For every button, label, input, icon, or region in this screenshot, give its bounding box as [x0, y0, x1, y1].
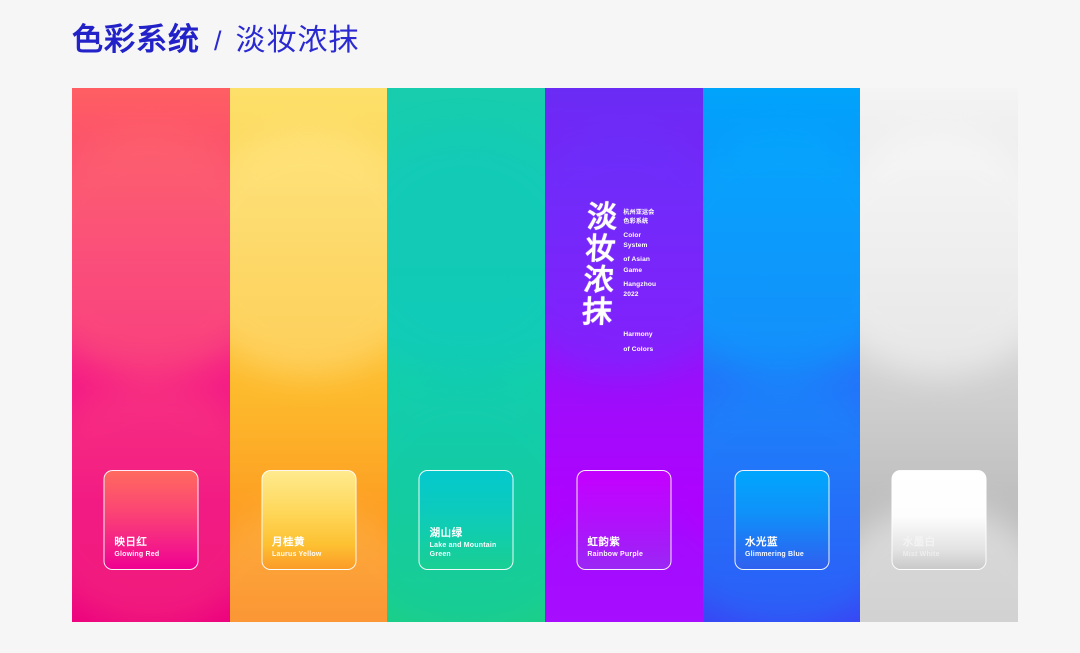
swatch-name-en: Glowing Red [114, 550, 197, 559]
swatch-name-en: Glimmering Blue [745, 550, 828, 559]
brand-logo-block: 淡 妆 浓 抹 杭州亚运会 色彩系统 Color System of Asian… [584, 203, 663, 355]
swatch-name-cn: 映日红 [114, 536, 197, 549]
tagline-line-2: of Colors [623, 345, 663, 355]
page-header: 色彩系统 / 淡妆浓抹 [72, 14, 360, 59]
meta-en-line-2: of Asian Game [623, 255, 663, 275]
meta-cn-line-1: 杭州亚运会 [623, 209, 663, 218]
swatch-card-blue[interactable]: 水光蓝 Glimmering Blue [734, 470, 829, 570]
color-palette-band: 映日红 Glowing Red 月桂黄 Laurus Yellow 湖山绿 La… [72, 88, 1018, 622]
color-column-blue[interactable]: 水光蓝 Glimmering Blue [703, 88, 861, 622]
logo-meta-text: 杭州亚运会 色彩系统 Color System of Asian Game Ha… [623, 203, 663, 355]
meta-en-line-1: Color System [623, 231, 663, 251]
swatch-name-cn: 湖山绿 [430, 527, 513, 540]
swatch-card-red[interactable]: 映日红 Glowing Red [103, 470, 198, 570]
logo-char-3: 浓 [583, 266, 615, 297]
swatch-card-green[interactable]: 湖山绿 Lake and Mountain Green [419, 470, 514, 570]
swatch-name-cn: 虹韵紫 [587, 536, 670, 549]
swatch-name-cn: 水光蓝 [745, 536, 828, 549]
page-subtitle: 淡妆浓抹 [236, 15, 360, 59]
logo-char-1: 淡 [586, 203, 618, 234]
swatch-name-en: Mist White [903, 550, 986, 559]
swatch-card-purple[interactable]: 虹韵紫 Rainbow Purple [576, 470, 671, 570]
swatch-name-cn: 水墨白 [903, 536, 986, 549]
color-column-purple[interactable]: 淡 妆 浓 抹 杭州亚运会 色彩系统 Color System of Asian… [545, 88, 703, 622]
swatch-card-white[interactable]: 水墨白 Mist White [892, 470, 987, 570]
color-column-yellow[interactable]: 月桂黄 Laurus Yellow [230, 88, 388, 622]
meta-en-line-3: Hangzhou 2022 [623, 280, 663, 300]
title-separator: / [212, 26, 224, 57]
swatch-name-en: Lake and Mountain Green [430, 541, 513, 559]
logo-calligraphy: 淡 妆 浓 抹 [581, 203, 618, 328]
swatch-name-en: Laurus Yellow [272, 550, 355, 559]
tagline-line-1: Harmony [623, 330, 663, 340]
logo-char-2: 妆 [584, 235, 616, 266]
page-title: 色彩系统 [72, 14, 200, 59]
color-column-white[interactable]: 水墨白 Mist White [860, 88, 1018, 622]
meta-cn-line-2: 色彩系统 [623, 218, 663, 227]
swatch-name-cn: 月桂黄 [272, 536, 355, 549]
color-column-red[interactable]: 映日红 Glowing Red [72, 88, 230, 622]
logo-char-4: 抹 [581, 298, 613, 329]
color-column-green[interactable]: 湖山绿 Lake and Mountain Green [387, 88, 545, 622]
swatch-card-yellow[interactable]: 月桂黄 Laurus Yellow [261, 470, 356, 570]
swatch-name-en: Rainbow Purple [587, 550, 670, 559]
